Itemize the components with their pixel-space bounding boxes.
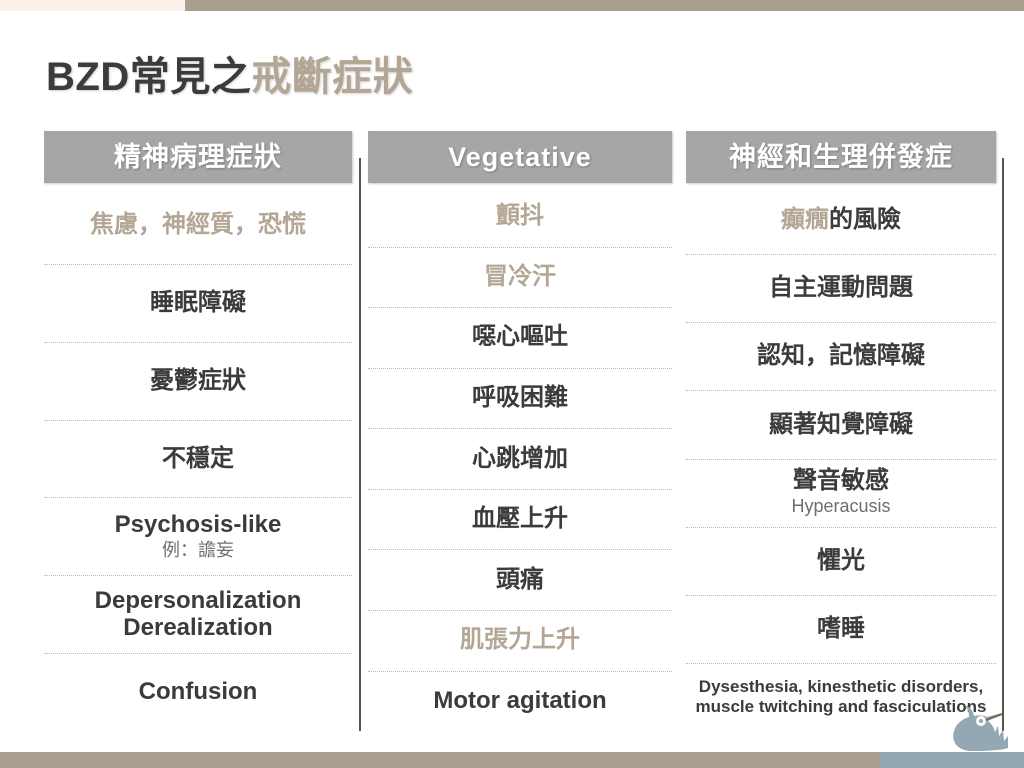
table-row: 心跳增加 — [368, 429, 672, 490]
page-title-primary: BZD常見之 — [46, 55, 251, 99]
table-row: 不穩定 — [44, 421, 352, 499]
row-sublabel: 例：譫妄 — [162, 540, 234, 562]
table-row: Depersonalization Derealization — [44, 576, 352, 654]
table-row: Psychosis-like 例：譫妄 — [44, 498, 352, 576]
row-label: 聲音敏感 — [793, 468, 889, 495]
row-label: Depersonalization Derealization — [95, 588, 302, 642]
row-sublabel: Hyperacusis — [791, 496, 890, 518]
row-label: 血壓上升 — [472, 506, 568, 533]
row-label: 顯著知覺障礙 — [769, 412, 913, 439]
row-label: 顫抖 — [496, 203, 544, 230]
table-row: 呼吸困難 — [368, 369, 672, 430]
column-body-2: 顫抖 冒冷汗 噁心嘔吐 呼吸困難 心跳增加 血壓上升 頭痛 肌張力上升 — [368, 183, 672, 731]
row-label: 噁心嘔吐 — [472, 324, 568, 351]
table-row: 嗜睡 — [686, 596, 996, 664]
top-decor-bar — [0, 0, 1024, 11]
table-row: 顫抖 — [368, 187, 672, 248]
column-divider-2 — [1002, 158, 1004, 731]
row-label: 冒冷汗 — [484, 264, 556, 291]
row-label: Psychosis-like — [115, 512, 282, 539]
column-divider-1 — [359, 158, 361, 731]
table-row: 冒冷汗 — [368, 248, 672, 309]
row-label: Motor agitation — [433, 688, 606, 715]
table-row: 顯著知覺障礙 — [686, 391, 996, 459]
bottom-bar-left-segment — [0, 752, 880, 768]
table-row: Confusion — [44, 654, 352, 731]
row-label: 心跳增加 — [472, 446, 568, 473]
quail-bird-logo-icon — [942, 704, 1014, 754]
symptom-table: 精神病理症狀 焦慮，神經質，恐慌 睡眠障礙 憂鬱症狀 不穩定 Psychosis… — [44, 131, 996, 731]
row-label: 呼吸困難 — [472, 385, 568, 412]
row-label: 頭痛 — [496, 567, 544, 594]
row-label-accent: 癲癇 — [781, 206, 829, 233]
bottom-decor-bar — [0, 752, 1024, 768]
bottom-bar-right-segment — [880, 752, 1024, 768]
table-row: Motor agitation — [368, 672, 672, 732]
row-label: 睡眠障礙 — [150, 290, 246, 317]
row-label: 肌張力上升 — [460, 627, 580, 654]
symptom-column-vegetative: Vegetative 顫抖 冒冷汗 噁心嘔吐 呼吸困難 心跳增加 血壓上升 頭痛 — [368, 131, 672, 731]
table-row: 自主運動問題 — [686, 255, 996, 323]
page-title-accent: 戒斷症狀 — [251, 55, 413, 99]
column-body-1: 焦慮，神經質，恐慌 睡眠障礙 憂鬱症狀 不穩定 Psychosis-like 例… — [44, 183, 352, 731]
symptom-column-psychopathological: 精神病理症狀 焦慮，神經質，恐慌 睡眠障礙 憂鬱症狀 不穩定 Psychosis… — [44, 131, 352, 731]
table-row: 血壓上升 — [368, 490, 672, 551]
column-header-1: 精神病理症狀 — [44, 131, 352, 183]
top-bar-right-segment — [185, 0, 1024, 11]
table-row: 懼光 — [686, 528, 996, 596]
column-gap — [672, 131, 686, 731]
symptom-column-neuro-physiological: 神經和生理併發症 癲癇的風險 自主運動問題 認知，記憶障礙 顯著知覺障礙 聲音敏… — [686, 131, 996, 731]
table-row: 癲癇的風險 — [686, 187, 996, 255]
column-header-2: Vegetative — [368, 131, 672, 183]
table-row: 焦慮，神經質，恐慌 — [44, 187, 352, 265]
row-label: 自主運動問題 — [769, 275, 913, 302]
table-row: 頭痛 — [368, 550, 672, 611]
top-bar-left-segment — [0, 0, 185, 11]
row-label: 認知，記憶障礙 — [757, 343, 925, 370]
table-row: 睡眠障礙 — [44, 265, 352, 343]
row-label: 懼光 — [817, 548, 865, 575]
row-label: 焦慮，神經質，恐慌 — [90, 212, 306, 239]
table-row: 噁心嘔吐 — [368, 308, 672, 369]
bird-eye-pupil — [979, 719, 983, 723]
table-row: 憂鬱症狀 — [44, 343, 352, 421]
table-row: 聲音敏感 Hyperacusis — [686, 460, 996, 528]
row-label: Confusion — [139, 679, 258, 706]
column-header-3: 神經和生理併發症 — [686, 131, 996, 183]
table-row: 認知，記憶障礙 — [686, 323, 996, 391]
row-label: 癲癇的風險 — [781, 207, 901, 234]
column-body-3: 癲癇的風險 自主運動問題 認知，記憶障礙 顯著知覺障礙 聲音敏感 Hyperac… — [686, 183, 996, 731]
table-row: 肌張力上升 — [368, 611, 672, 672]
row-label: 嗜睡 — [817, 616, 865, 643]
page-title: BZD常見之戒斷症狀 — [46, 44, 413, 102]
row-label-rest: 的風險 — [829, 206, 901, 233]
row-label: 不穩定 — [162, 446, 234, 473]
row-label: 憂鬱症狀 — [150, 368, 246, 395]
bird-body-path — [953, 705, 1008, 751]
